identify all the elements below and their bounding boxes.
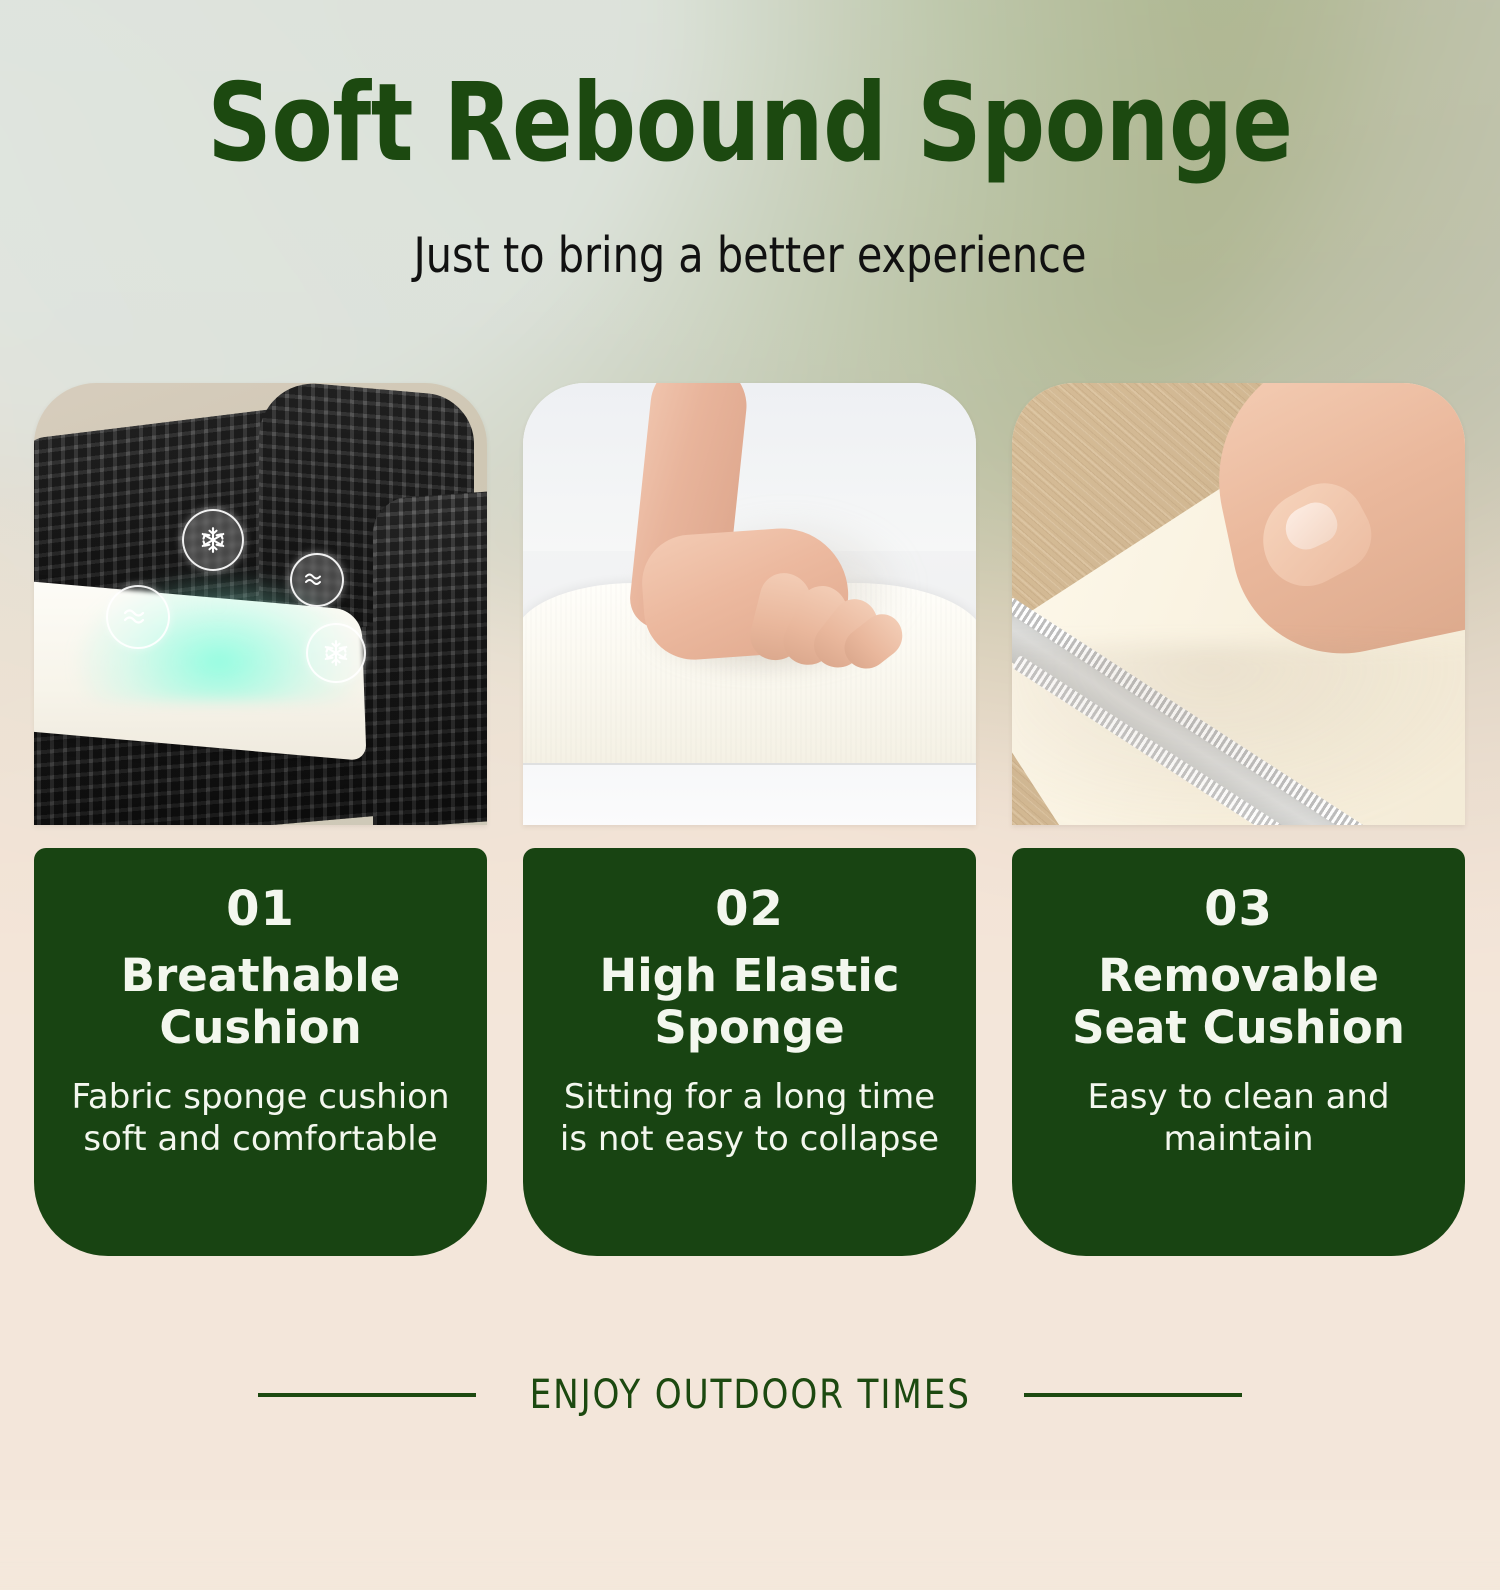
feature-photo-breathable-cushion bbox=[34, 383, 487, 825]
feature-column-1 bbox=[34, 383, 487, 825]
feature-photo-removable-seat-cushion bbox=[1012, 383, 1465, 825]
feature-number: 03 bbox=[1038, 882, 1439, 936]
feature-title-line-1: High Elastic bbox=[549, 950, 950, 1002]
feature-title-line-2: Cushion bbox=[60, 1002, 461, 1054]
waves-icon bbox=[290, 553, 344, 607]
feature-title-line-2: Sponge bbox=[549, 1002, 950, 1054]
feature-card-1: 01 Breathable Cushion Fabric sponge cush… bbox=[34, 848, 487, 1256]
feature-number: 01 bbox=[60, 882, 461, 936]
cushion-shadow bbox=[1012, 645, 1465, 825]
page-subtitle: Just to bring a better experience bbox=[45, 228, 1455, 284]
footer: ENJOY OUTDOOR TIMES bbox=[0, 1372, 1500, 1418]
infographic-page: Soft Rebound Sponge Just to bring a bett… bbox=[0, 0, 1500, 1500]
feature-column-2 bbox=[523, 383, 976, 825]
page-title: Soft Rebound Sponge bbox=[60, 70, 1440, 178]
feature-card-3: 03 Removable Seat Cushion Easy to clean … bbox=[1012, 848, 1465, 1256]
waves-icon bbox=[106, 585, 170, 649]
snowflake-icon bbox=[306, 623, 366, 683]
footer-rule-right bbox=[1024, 1393, 1242, 1397]
feature-column-3 bbox=[1012, 383, 1465, 825]
feature-description: Fabric sponge cushion soft and comfortab… bbox=[60, 1076, 461, 1160]
feature-title: Removable Seat Cushion bbox=[1038, 950, 1439, 1054]
feature-description: Sitting for a long time is not easy to c… bbox=[549, 1076, 950, 1160]
foam-base-surface bbox=[523, 763, 976, 825]
footer-tagline: ENJOY OUTDOOR TIMES bbox=[529, 1372, 970, 1418]
feature-number: 02 bbox=[549, 882, 950, 936]
feature-title-line-1: Breathable bbox=[60, 950, 461, 1002]
feature-title: Breathable Cushion bbox=[60, 950, 461, 1054]
feature-description: Easy to clean and maintain bbox=[1038, 1076, 1439, 1160]
feature-title-line-1: Removable bbox=[1038, 950, 1439, 1002]
feature-title: High Elastic Sponge bbox=[549, 950, 950, 1054]
feature-photo-high-elastic-sponge bbox=[523, 383, 976, 825]
feature-title-line-2: Seat Cushion bbox=[1038, 1002, 1439, 1054]
rattan-armrest bbox=[373, 491, 487, 825]
footer-rule-left bbox=[258, 1393, 476, 1397]
snowflake-icon bbox=[182, 509, 244, 571]
feature-card-2: 02 High Elastic Sponge Sitting for a lon… bbox=[523, 848, 976, 1256]
